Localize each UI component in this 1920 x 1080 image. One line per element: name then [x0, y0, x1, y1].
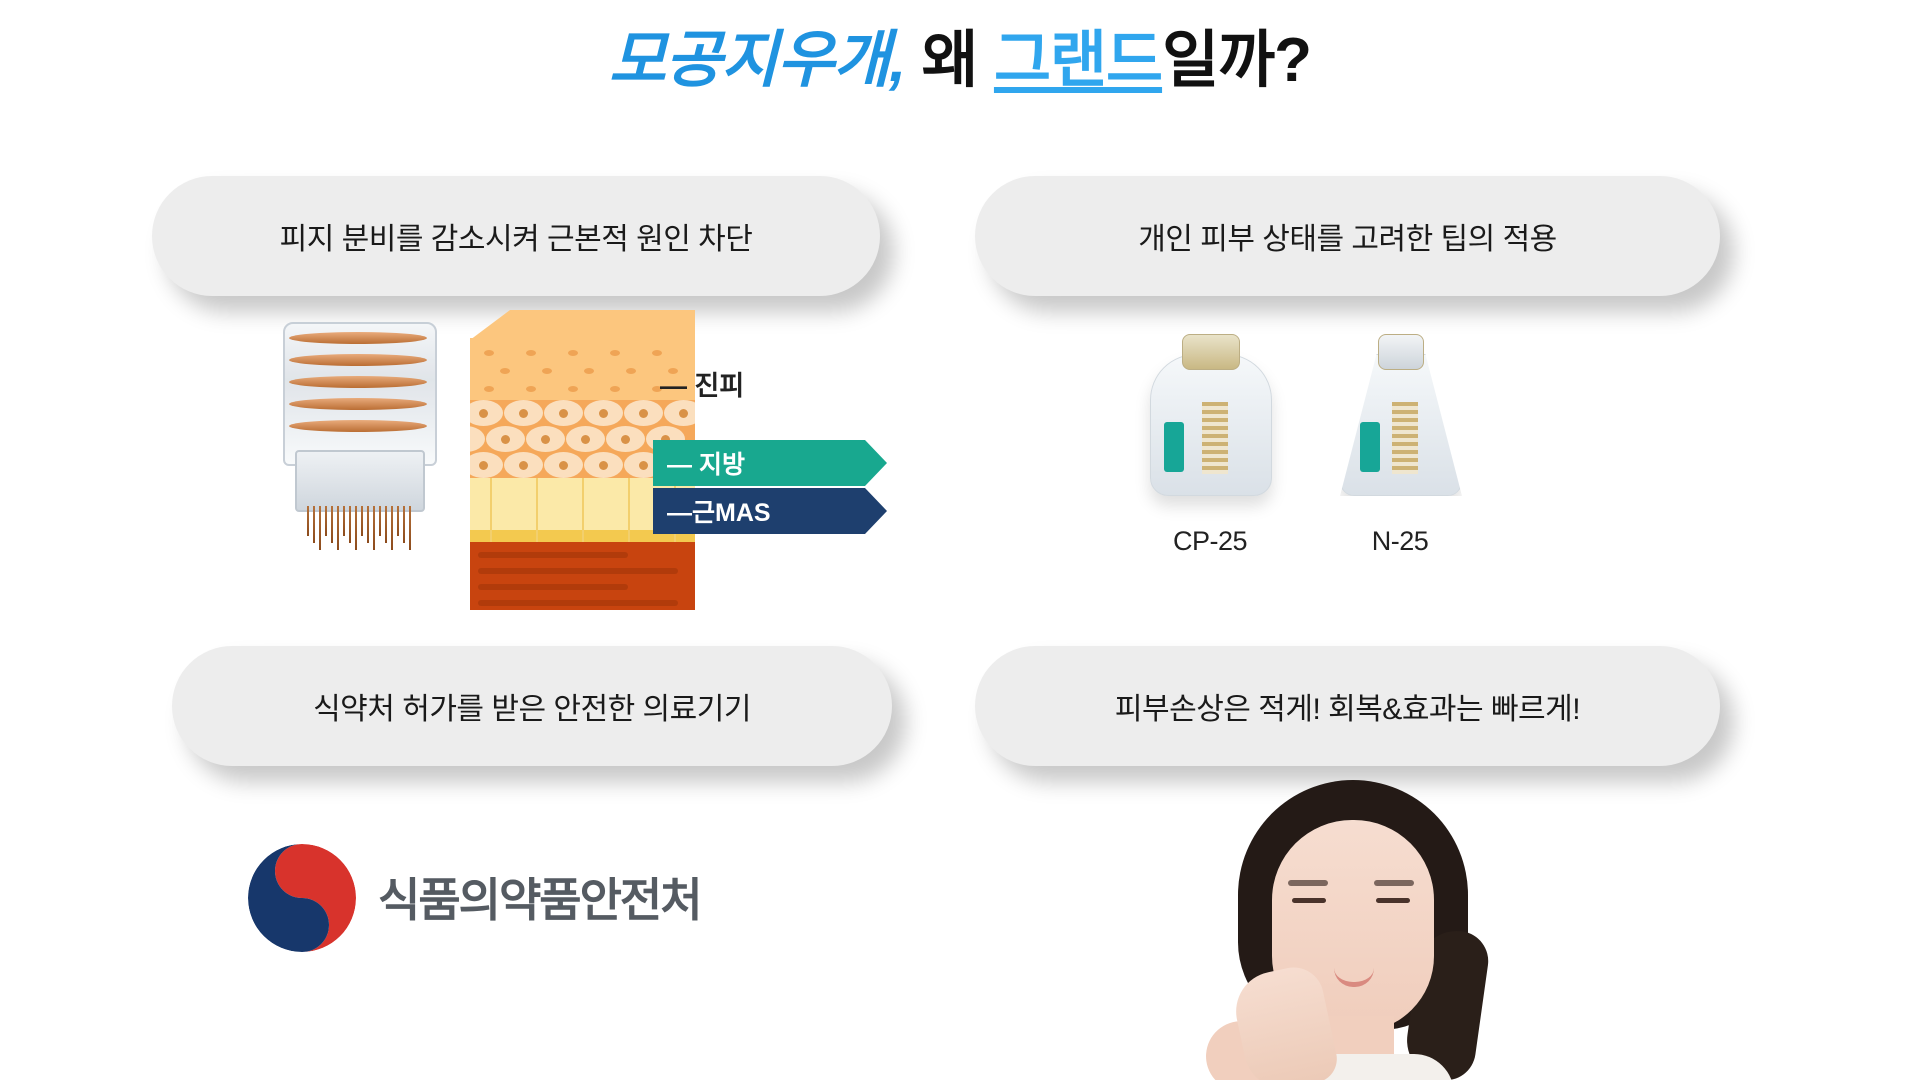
- tip-label-cp25: CP-25: [1150, 526, 1270, 557]
- feature-pill-4-label: 피부손상은 적게! 회복&효과는 빠르게!: [1115, 684, 1580, 728]
- title-part-4: 일까?: [1162, 26, 1311, 95]
- feature-pill-2-label: 개인 피부 상태를 고려한 팁의 적용: [1138, 214, 1557, 258]
- needle-tip-device-icon: [255, 310, 470, 545]
- page-title: 모공지우개, 왜 그랜드일까?: [0, 22, 1920, 100]
- tip-cartridges-illustration: CP-25 N-25: [1130, 330, 1570, 600]
- feature-pill-2[interactable]: 개인 피부 상태를 고려한 팁의 적용: [975, 176, 1720, 296]
- skin-label-mas: —근MAS: [653, 488, 887, 534]
- skin-top-surface: [470, 310, 695, 340]
- feature-pill-3-label: 식약처 허가를 받은 안전한 의료기기: [313, 684, 751, 728]
- tip-cartridge-cp25: [1150, 330, 1270, 510]
- slide-root: 모공지우개, 왜 그랜드일까? 피지 분비를 감소시켜 근본적 원인 차단 개인…: [0, 0, 1920, 1080]
- skin-label-dermis: — 진피: [660, 364, 744, 403]
- feature-pill-1-label: 피지 분비를 감소시켜 근본적 원인 차단: [280, 214, 753, 258]
- mfds-logo-label: 식품의약품안전처: [378, 864, 701, 930]
- skin-label-fat: — 지방: [653, 440, 887, 486]
- tip-label-n25: N-25: [1340, 526, 1460, 557]
- taeguk-icon: [248, 844, 356, 952]
- title-part-1: 모공지우개,: [609, 26, 905, 95]
- feature-pill-4[interactable]: 피부손상은 적게! 회복&효과는 빠르게!: [975, 646, 1720, 766]
- model-photo: [1180, 780, 1540, 1080]
- skin-cross-section-illustration: — 진피 — 지방 —근MAS: [255, 310, 845, 630]
- feature-pill-1[interactable]: 피지 분비를 감소시켜 근본적 원인 차단: [152, 176, 880, 296]
- title-part-3: 그랜드: [994, 26, 1162, 95]
- mfds-logo: 식품의약품안전처: [248, 840, 808, 960]
- tip-cartridge-n25: [1340, 330, 1460, 510]
- skin-layer-muscle: [470, 542, 695, 610]
- feature-pill-3[interactable]: 식약처 허가를 받은 안전한 의료기기: [172, 646, 892, 766]
- title-part-2: 왜: [922, 26, 978, 95]
